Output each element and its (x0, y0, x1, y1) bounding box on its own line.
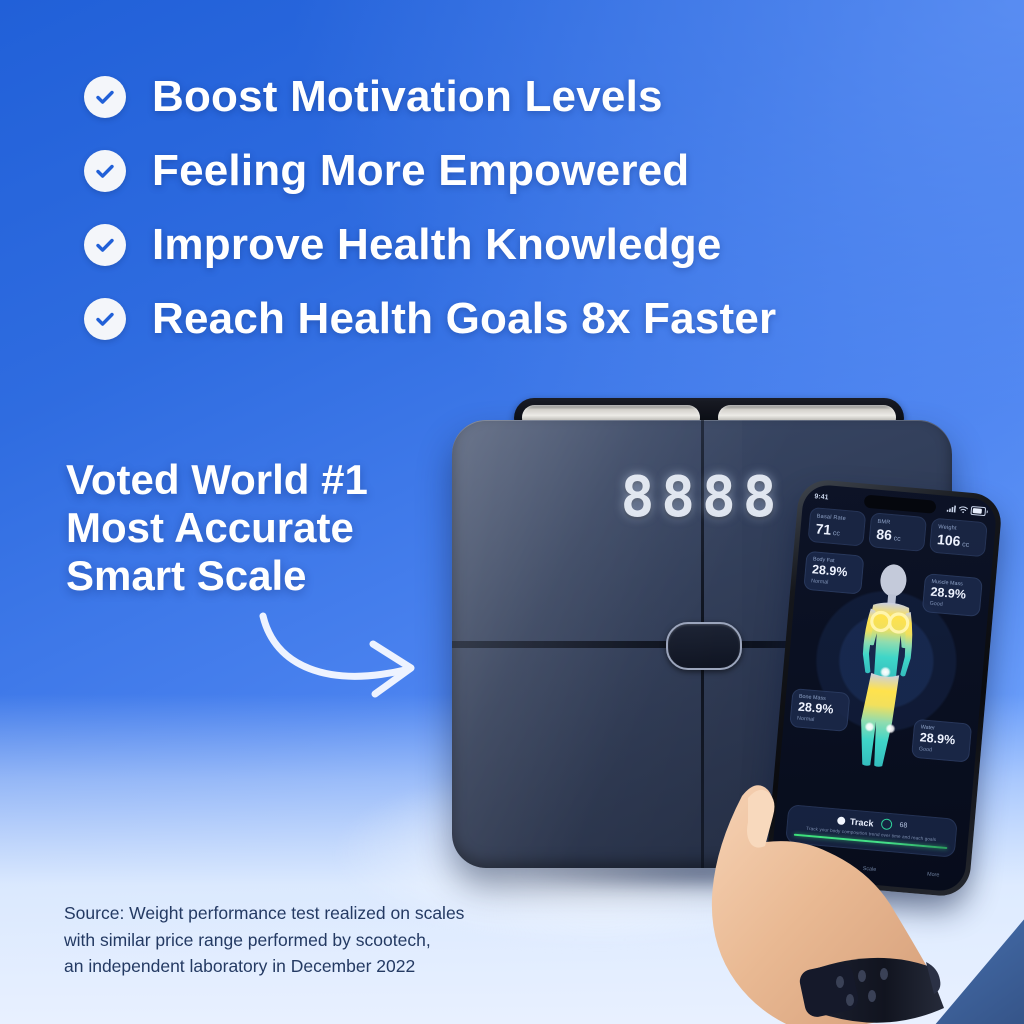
stat-value-wrap: 86cc (876, 527, 919, 545)
stat-value-wrap: 106cc (937, 532, 980, 550)
curved-arrow-right-icon (255, 610, 445, 700)
benefit-label: Improve Health Knowledge (152, 220, 722, 270)
stat-value-wrap: 71cc (815, 521, 858, 539)
metric-value: 28.9% (930, 586, 975, 602)
stat-value: 86 (876, 526, 893, 543)
benefit-item: Boost Motivation Levels (84, 70, 914, 124)
metric-sub: Normal (797, 715, 841, 725)
metric-card-body-fat[interactable]: Body Fat 28.9% Normal (803, 551, 864, 594)
metric-value: 28.9% (812, 563, 857, 579)
stat-card[interactable]: Basal Rate 71cc (807, 507, 866, 547)
stat-unit: cc (962, 541, 970, 549)
benefits-list: Boost Motivation Levels Feeling More Emp… (84, 70, 914, 366)
stat-unit: cc (833, 530, 841, 538)
benefit-label: Feeling More Empowered (152, 146, 689, 196)
status-bar-time: 9:41 (814, 493, 829, 501)
benefit-item: Feeling More Empowered (84, 144, 914, 198)
metric-sub: Normal (811, 578, 855, 588)
metric-card-muscle-mass[interactable]: Muscle Mass 28.9% Good (922, 573, 983, 616)
stat-value: 71 (815, 520, 832, 537)
headline-line-3: Smart Scale (66, 552, 486, 600)
stat-value: 106 (936, 531, 961, 549)
promo-image-canvas: Boost Motivation Levels Feeling More Emp… (0, 0, 1024, 1024)
signal-bars-icon (947, 504, 957, 512)
check-circle-icon (84, 150, 126, 192)
metric-sub: Good (929, 600, 973, 610)
check-circle-icon (84, 76, 126, 118)
metric-card-water[interactable]: Water 28.9% Good (911, 719, 972, 762)
benefit-item: Reach Health Goals 8x Faster (84, 292, 914, 346)
battery-icon (970, 505, 986, 515)
metric-sub: Good (919, 746, 963, 756)
benefit-item: Improve Health Knowledge (84, 218, 914, 272)
body-composition-area: Body Fat 28.9% Normal Muscle Mass 28.9% … (780, 548, 992, 782)
stat-card[interactable]: BMR 86cc (868, 512, 927, 552)
headline-line-2: Most Accurate (66, 504, 486, 552)
check-circle-icon (84, 224, 126, 266)
stat-unit: cc (893, 535, 901, 543)
wifi-icon (959, 505, 969, 513)
metric-card-bone-mass[interactable]: Bone Mass 28.9% Normal (789, 688, 850, 731)
metric-value: 28.9% (797, 701, 842, 717)
headline-line-1: Voted World #1 (66, 456, 486, 504)
benefit-label: Boost Motivation Levels (152, 72, 663, 122)
benefit-label: Reach Health Goals 8x Faster (152, 294, 776, 344)
source-line-1: Source: Weight performance test realized… (64, 900, 604, 926)
hand-holding-phone (690, 770, 1024, 1024)
source-line-2: with similar price range performed by sc… (64, 927, 604, 953)
scale-center-button[interactable] (666, 622, 742, 670)
headline-block: Voted World #1 Most Accurate Smart Scale (66, 456, 486, 600)
metric-value: 28.9% (919, 731, 964, 747)
stat-card[interactable]: Weight 106cc (929, 518, 988, 558)
source-note: Source: Weight performance test realized… (64, 900, 604, 979)
check-circle-icon (84, 298, 126, 340)
source-line-3: an independent laboratory in December 20… (64, 953, 604, 979)
status-bar-icons (947, 503, 987, 515)
